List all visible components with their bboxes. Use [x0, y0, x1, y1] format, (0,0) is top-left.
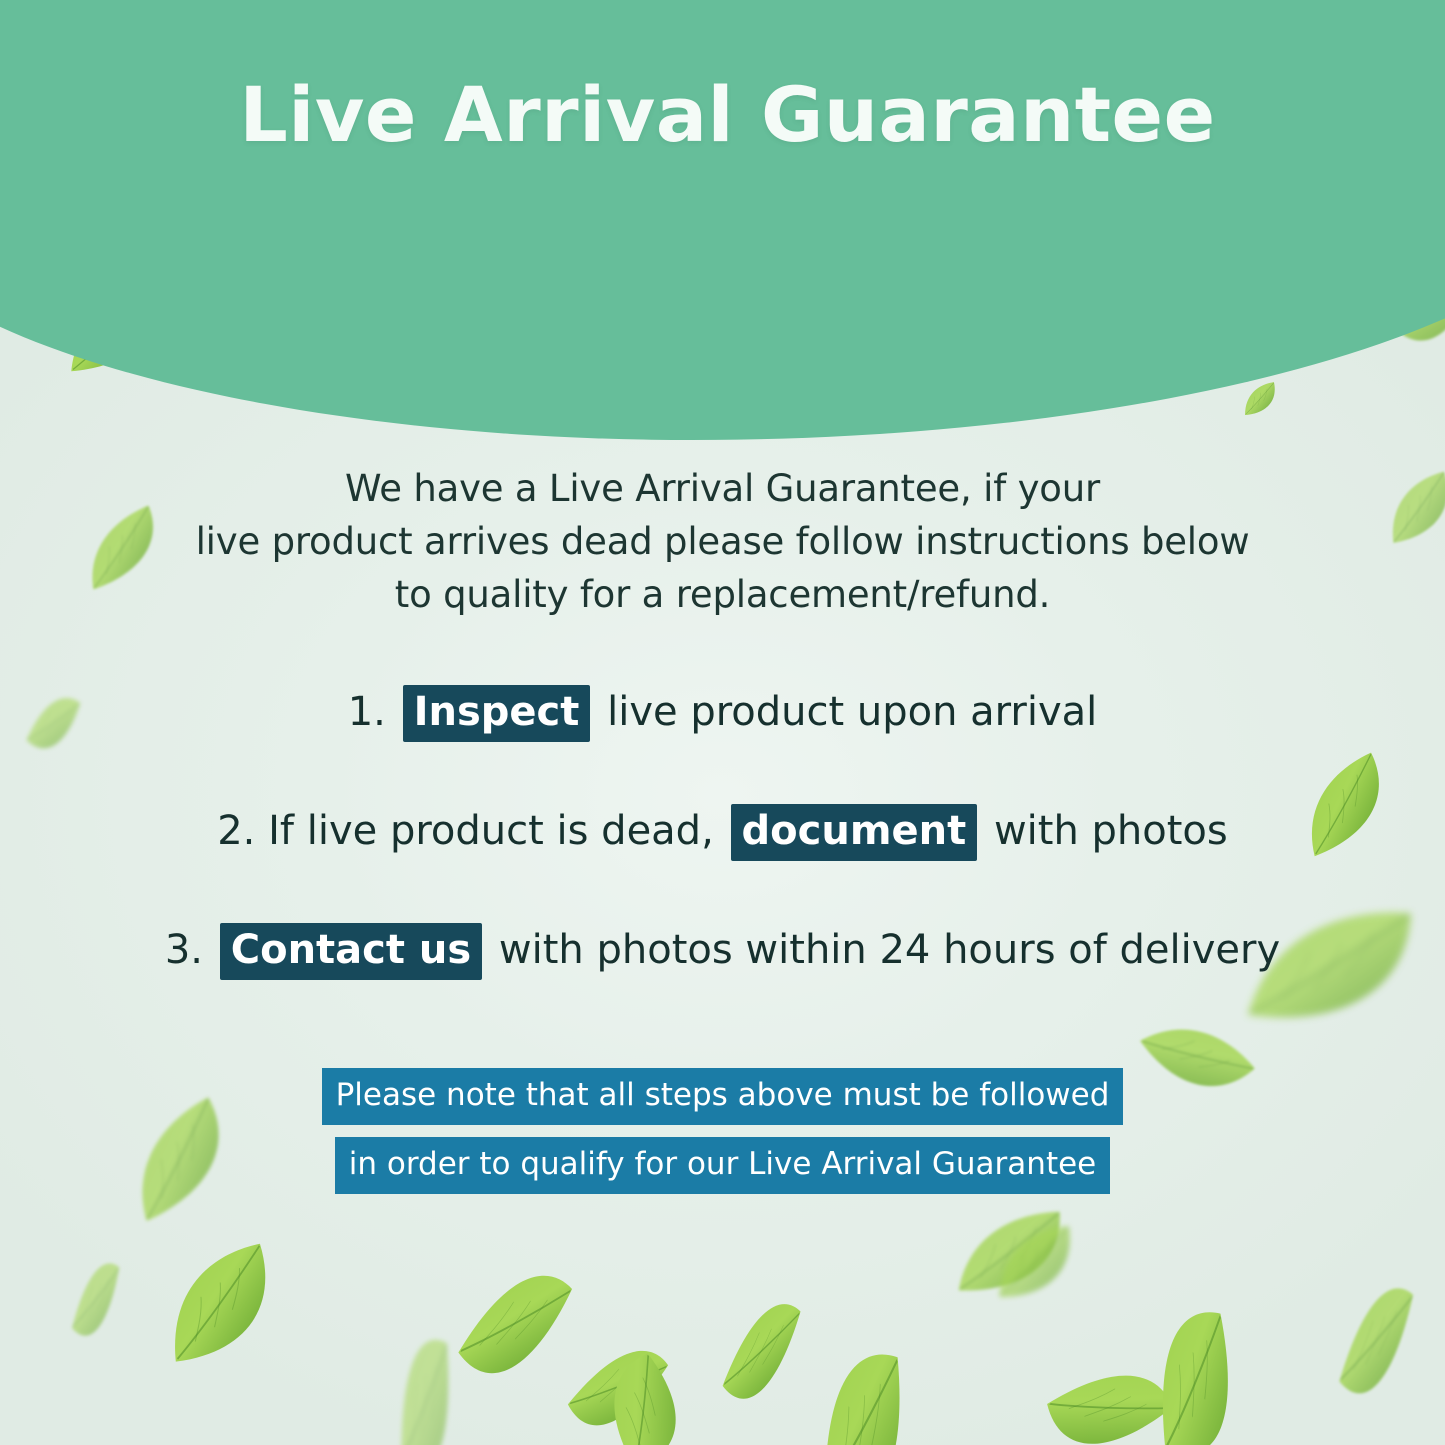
- intro-line-3: to quality for a replacement/refund.: [0, 568, 1445, 621]
- note-line-2: in order to qualify for our Live Arrival…: [335, 1137, 1111, 1194]
- note-line-1: Please note that all steps above must be…: [322, 1068, 1124, 1125]
- step-item-1: 1. Inspect live product upon arrival: [0, 680, 1445, 744]
- step-1-after-text: live product upon arrival: [607, 689, 1097, 735]
- step-3-after-text: with photos within 24 hours of delivery: [499, 927, 1280, 973]
- step-item-2: 2. If live product is dead, document wit…: [0, 799, 1445, 863]
- step-3-number: 3.: [165, 927, 203, 973]
- poster-content: We have a Live Arrival Guarantee, if you…: [0, 0, 1445, 1445]
- steps-list: 1. Inspect live product upon arrival 2. …: [0, 680, 1445, 982]
- step-1-number: 1.: [348, 689, 386, 735]
- step-2-highlight: document: [731, 804, 978, 861]
- step-2-after-text: with photos: [994, 808, 1228, 854]
- intro-paragraph: We have a Live Arrival Guarantee, if you…: [0, 462, 1445, 621]
- step-1-highlight: Inspect: [403, 685, 591, 742]
- step-2-before-text: If live product is dead,: [268, 808, 714, 854]
- step-2-number: 2.: [217, 808, 255, 854]
- step-3-highlight: Contact us: [220, 923, 482, 980]
- step-item-3: 3. Contact us with photos within 24 hour…: [0, 918, 1445, 982]
- intro-line-1: We have a Live Arrival Guarantee, if you…: [0, 462, 1445, 515]
- live-arrival-guarantee-poster: Live Arrival Guarantee We have a Live Ar…: [0, 0, 1445, 1445]
- note-block: Please note that all steps above must be…: [0, 1068, 1445, 1194]
- intro-line-2: live product arrives dead please follow …: [0, 515, 1445, 568]
